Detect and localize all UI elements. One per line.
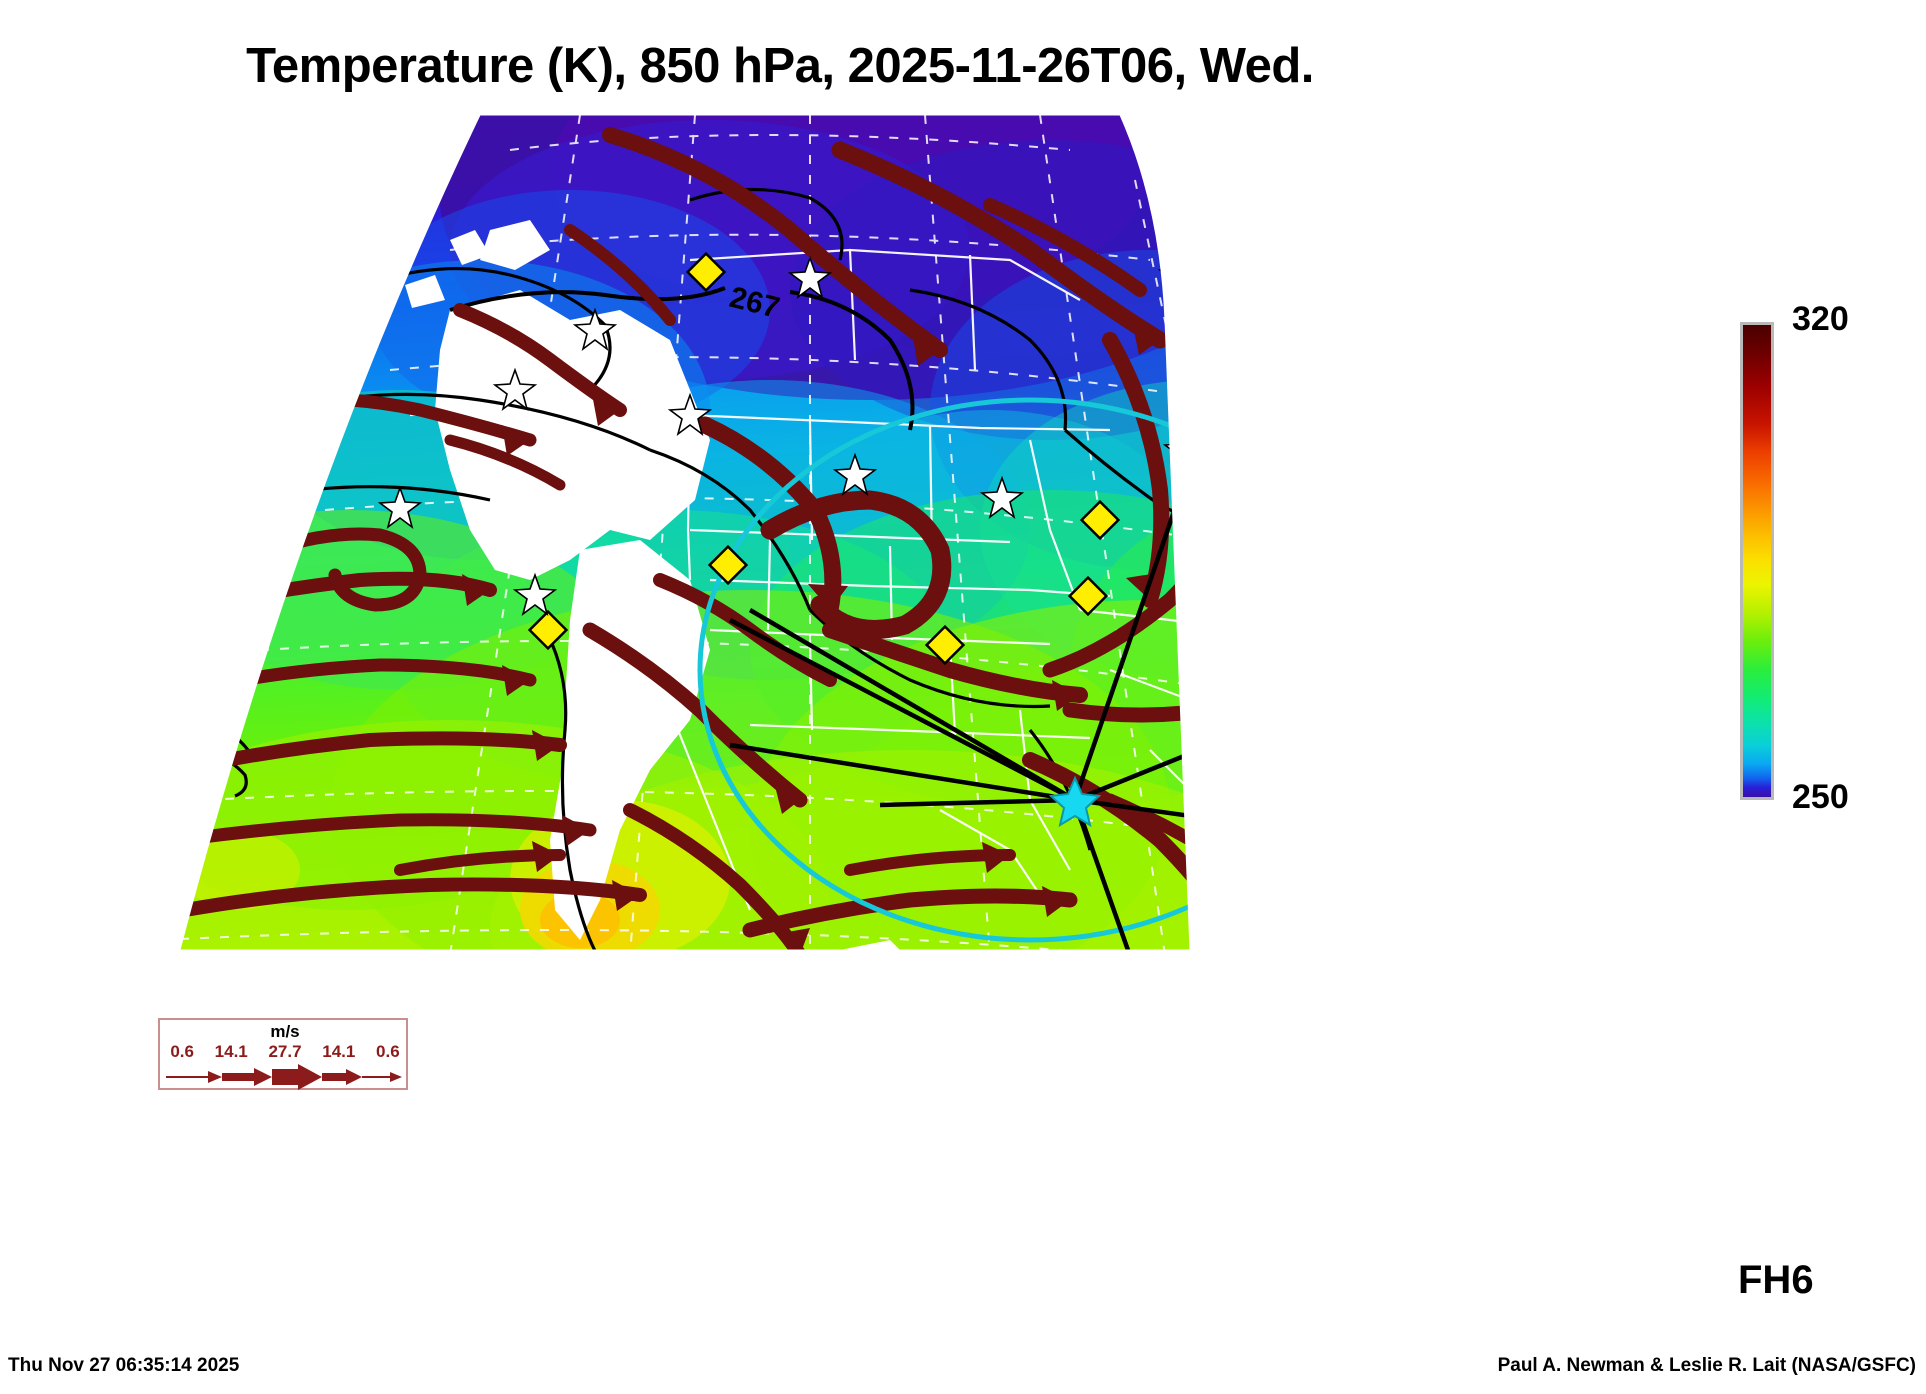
wind-value-0: 0.6 <box>170 1042 194 1062</box>
colorbar-max-label: 320 <box>1792 300 1849 339</box>
wind-arrow-scale-icon <box>164 1064 406 1090</box>
map-data-layer: 267 <box>150 110 1450 960</box>
temperature-map[interactable]: 267 <box>150 110 1450 960</box>
wind-value-3: 14.1 <box>322 1042 355 1062</box>
colorbar-gradient <box>1740 322 1774 800</box>
generation-timestamp: Thu Nov 27 06:35:14 2025 <box>8 1355 239 1377</box>
colorbar[interactable]: 320 250 <box>1740 300 1926 820</box>
page-title: Temperature (K), 850 hPa, 2025-11-26T06,… <box>0 38 1560 94</box>
wind-value-1: 14.1 <box>215 1042 248 1062</box>
wind-value-4: 0.6 <box>376 1042 400 1062</box>
forecast-hour-label: FH6 <box>1738 1258 1814 1303</box>
wind-speed-values: 0.6 14.1 27.7 14.1 0.6 <box>160 1042 410 1062</box>
wind-speed-legend: m/s 0.6 14.1 27.7 14.1 0.6 <box>158 1018 408 1090</box>
author-credit: Paul A. Newman & Leslie R. Lait (NASA/GS… <box>1498 1355 1916 1377</box>
wind-units-label: m/s <box>160 1022 410 1042</box>
wind-value-2: 27.7 <box>268 1042 301 1062</box>
map-panel[interactable]: 267 <box>150 110 1450 960</box>
colorbar-min-label: 250 <box>1792 778 1849 817</box>
